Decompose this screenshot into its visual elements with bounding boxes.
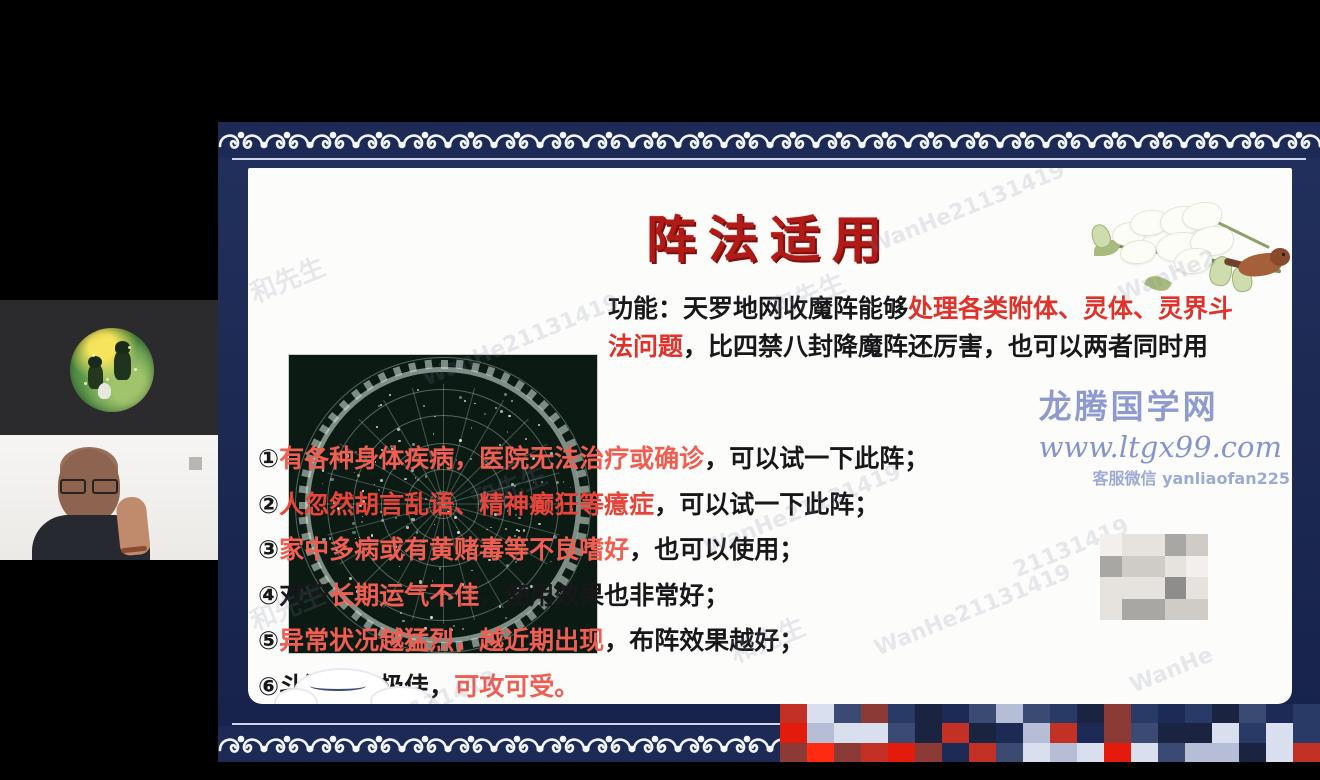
star-chart-star <box>511 400 513 402</box>
list-plain: ，可以试一下此阵； <box>704 444 929 473</box>
mosaic-block <box>861 723 888 742</box>
scrollwork-pattern-icon <box>218 126 1320 154</box>
mosaic-block <box>834 743 861 762</box>
mosaic-block <box>1165 556 1187 578</box>
mosaic-block <box>1104 704 1131 723</box>
mosaic-block <box>1023 704 1050 723</box>
mosaic-block <box>834 704 861 723</box>
mosaic-block <box>942 723 969 742</box>
mosaic-block <box>1293 704 1320 723</box>
mosaic-block <box>915 723 942 742</box>
mosaic-block <box>1077 723 1104 742</box>
body-lead-label: 功能： <box>608 294 683 323</box>
mosaic-block <box>1186 534 1208 556</box>
list-marker: ① <box>258 444 279 473</box>
list-marker: ④ <box>258 581 279 610</box>
mosaic-block <box>1104 743 1131 762</box>
mosaic-block <box>1266 743 1293 762</box>
mosaic-block <box>1158 723 1185 742</box>
list-item: ②人忽然胡言乱语、精神癫狂等癔症，可以试一下此阵； <box>258 482 1282 528</box>
star-chart-star <box>459 396 462 399</box>
bird-icon <box>1234 248 1290 282</box>
slide-content-area: 阵法适用 <box>248 168 1292 704</box>
star-chart-star <box>389 394 390 395</box>
star-chart-star <box>433 433 434 434</box>
list-plain: ，也可以使用； <box>629 535 804 564</box>
censored-mosaic-strip <box>780 704 1320 762</box>
star-chart-star <box>471 427 472 428</box>
mosaic-block <box>861 704 888 723</box>
list-prefix: 对于 <box>279 581 329 610</box>
list-marker: ⑤ <box>258 626 279 655</box>
list-highlight: 长期运气不佳 <box>329 581 479 610</box>
body-line2-plain: ，比四禁八封降魔阵还厉害，也可以两者同时用 <box>683 332 1208 361</box>
star-chart-star <box>500 410 503 413</box>
avatar <box>70 328 154 412</box>
wall-square-decor <box>189 457 202 470</box>
mosaic-block <box>1212 743 1239 762</box>
mosaic-block <box>1165 577 1187 599</box>
cloud-decoration-icon <box>274 672 454 704</box>
slide-body-text: 功能：天罗地网收魔阵能够处理各类附体、灵体、灵界斗 法问题，比四禁八封降魔阵还厉… <box>608 290 1282 366</box>
mosaic-block <box>1100 599 1122 621</box>
list-plain: ，布阵效果越好； <box>604 626 804 655</box>
mosaic-block <box>1212 723 1239 742</box>
mosaic-block <box>969 723 996 742</box>
mosaic-block <box>1239 704 1266 723</box>
mosaic-block <box>861 743 888 762</box>
star-chart-glyph <box>456 360 464 370</box>
mosaic-block <box>1131 704 1158 723</box>
star-chart-star <box>380 404 382 406</box>
mosaic-block <box>1293 723 1320 742</box>
mosaic-block <box>1023 723 1050 742</box>
mosaic-block <box>1186 599 1208 621</box>
mosaic-block <box>807 723 834 742</box>
mosaic-block <box>1077 743 1104 762</box>
list-item: ⑤异常状况越猛烈，越近期出现，布阵效果越好； <box>258 618 1282 664</box>
list-highlight: 人忽然胡言乱语、精神癫狂等癔症 <box>279 490 654 519</box>
mosaic-block <box>834 723 861 742</box>
mosaic-block <box>1165 534 1187 556</box>
mosaic-block <box>780 704 807 723</box>
mosaic-block <box>1100 534 1122 556</box>
participant-avatar-tile[interactable] <box>0 300 220 435</box>
mosaic-block <box>1131 723 1158 742</box>
mosaic-block <box>942 743 969 762</box>
star-chart-glyph <box>441 360 448 369</box>
mosaic-block <box>969 743 996 762</box>
cloud-decoration-line <box>310 681 366 691</box>
glasses-icon <box>60 479 118 490</box>
star-chart-star <box>423 405 425 407</box>
mosaic-block <box>1122 534 1144 556</box>
mosaic-block <box>1023 743 1050 762</box>
mosaic-block <box>1122 599 1144 621</box>
mosaic-block <box>1143 599 1165 621</box>
mosaic-block <box>1104 723 1131 742</box>
mosaic-block <box>780 743 807 762</box>
mosaic-block <box>1122 556 1144 578</box>
list-highlight: 有各种身体疾病，医院无法治疗或确诊 <box>279 444 704 473</box>
mosaic-block <box>1185 743 1212 762</box>
mosaic-block <box>1185 704 1212 723</box>
mosaic-block <box>1143 556 1165 578</box>
mosaic-block <box>1266 704 1293 723</box>
mosaic-block <box>1050 743 1077 762</box>
mosaic-block <box>1293 743 1320 762</box>
star-chart-star <box>464 400 466 402</box>
mosaic-block <box>1143 534 1165 556</box>
list-plain: ，可以试一下此阵； <box>654 490 879 519</box>
list-marker: ③ <box>258 535 279 564</box>
mosaic-block <box>996 723 1023 742</box>
mosaic-block <box>888 743 915 762</box>
star-chart-star <box>376 426 378 428</box>
mosaic-block <box>1239 723 1266 742</box>
mosaic-block <box>807 704 834 723</box>
list-highlight: 家中多病或有黄赌毒等不良嗜好 <box>279 535 629 564</box>
mosaic-block <box>1158 743 1185 762</box>
site-watermark-name: 龙腾国学网 <box>1039 380 1282 428</box>
mosaic-block <box>807 743 834 762</box>
mosaic-block <box>996 743 1023 762</box>
slide-border-top <box>218 122 1320 158</box>
mosaic-block <box>915 743 942 762</box>
mosaic-block <box>1131 743 1158 762</box>
speaker-camera-tile[interactable] <box>0 435 220 560</box>
star-chart-star <box>508 415 510 417</box>
body-line1-highlight: 处理各类附体、灵体、灵界斗 <box>908 294 1233 323</box>
mosaic-block <box>1100 577 1122 599</box>
mosaic-block <box>888 723 915 742</box>
mosaic-block <box>1050 704 1077 723</box>
mosaic-block <box>1186 556 1208 578</box>
mosaic-block <box>1239 743 1266 762</box>
mosaic-block <box>1185 723 1212 742</box>
list-item: ①有各种身体疾病，医院无法治疗或确诊，可以试一下此阵； <box>258 436 1282 482</box>
mosaic-block <box>969 704 996 723</box>
star-chart-star <box>378 405 380 407</box>
star-chart-glyph <box>424 360 432 370</box>
body-line2-highlight: 法问题 <box>608 332 683 361</box>
mosaic-block <box>915 704 942 723</box>
mosaic-block <box>780 723 807 742</box>
mosaic-block <box>1143 577 1165 599</box>
mosaic-block <box>1077 704 1104 723</box>
mosaic-block <box>1100 556 1122 578</box>
star-chart-star <box>417 389 419 391</box>
list-highlight: 可攻可受。 <box>454 672 579 701</box>
mosaic-block <box>1158 704 1185 723</box>
presentation-slide: 阵法适用 <box>218 122 1320 762</box>
body-line1-plain: 天罗地网收魔阵能够 <box>683 294 908 323</box>
mosaic-block <box>888 704 915 723</box>
mosaic-block <box>1050 723 1077 742</box>
mosaic-block <box>942 704 969 723</box>
censored-mosaic-panel <box>1100 534 1208 620</box>
screen-share-stage: 阵法适用 <box>0 0 1320 780</box>
mosaic-block <box>1266 723 1293 742</box>
list-marker: ② <box>258 490 279 519</box>
mosaic-block <box>996 704 1023 723</box>
mosaic-block <box>1186 577 1208 599</box>
mosaic-block <box>1165 599 1187 621</box>
list-highlight: 异常状况越猛烈，越近期出现 <box>279 626 604 655</box>
list-plain: ，使用效果也非常好； <box>479 581 729 610</box>
mosaic-block <box>1122 577 1144 599</box>
mosaic-block <box>1212 704 1239 723</box>
star-chart-star <box>474 403 475 404</box>
